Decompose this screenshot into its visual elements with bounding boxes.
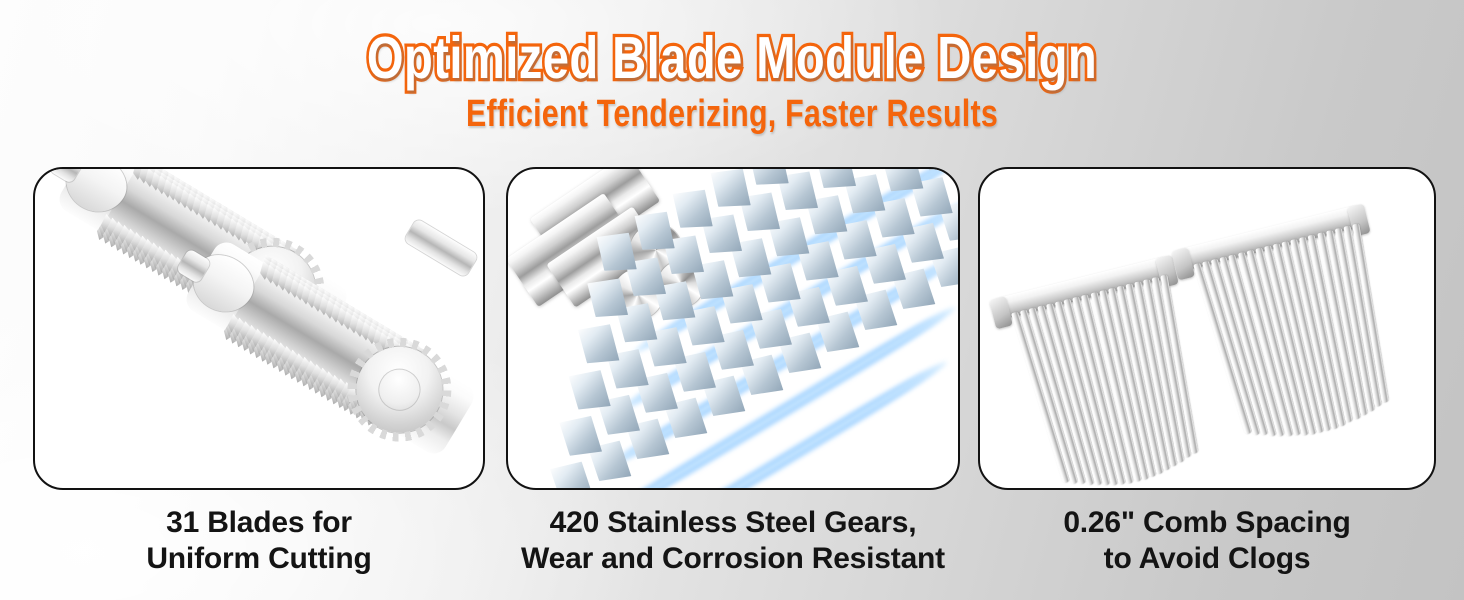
panel-row <box>0 167 1464 490</box>
page-title: Optimized Blade Module Design <box>146 27 1317 89</box>
blade-tooth <box>546 455 598 488</box>
caption-blades-line-1: 31 Blades for <box>33 505 485 541</box>
comb-illustration <box>980 169 1434 488</box>
panel-card-blades <box>33 167 485 490</box>
comb <box>993 256 1175 329</box>
blue-blade-roller <box>508 169 958 488</box>
caption-combs-line-1: 0.26" Comb Spacing <box>978 505 1436 541</box>
blade-roller <box>181 237 478 458</box>
blade-rollers-illustration <box>35 169 483 488</box>
caption-blades: 31 Blades for Uniform Cutting <box>33 505 485 577</box>
page-subtitle: Efficient Tenderizing, Faster Results <box>146 93 1317 135</box>
comb <box>1175 204 1367 279</box>
hex-shaft <box>403 218 478 277</box>
stainless-steel-illustration <box>508 169 958 488</box>
caption-combs: 0.26" Comb Spacing to Avoid Clogs <box>978 505 1436 577</box>
caption-combs-line-2: to Avoid Clogs <box>978 541 1436 577</box>
caption-row: 31 Blades for Uniform Cutting 420 Stainl… <box>0 505 1464 600</box>
panel-card-combs <box>978 167 1436 490</box>
panel-card-gears <box>506 167 960 490</box>
caption-blades-line-2: Uniform Cutting <box>33 541 485 577</box>
caption-gears-line-2: Wear and Corrosion Resistant <box>490 541 976 577</box>
caption-gears-line-1: 420 Stainless Steel Gears, <box>490 505 976 541</box>
header-block: Optimized Blade Module Design Efficient … <box>0 0 1464 135</box>
caption-gears: 420 Stainless Steel Gears, Wear and Corr… <box>490 505 976 577</box>
